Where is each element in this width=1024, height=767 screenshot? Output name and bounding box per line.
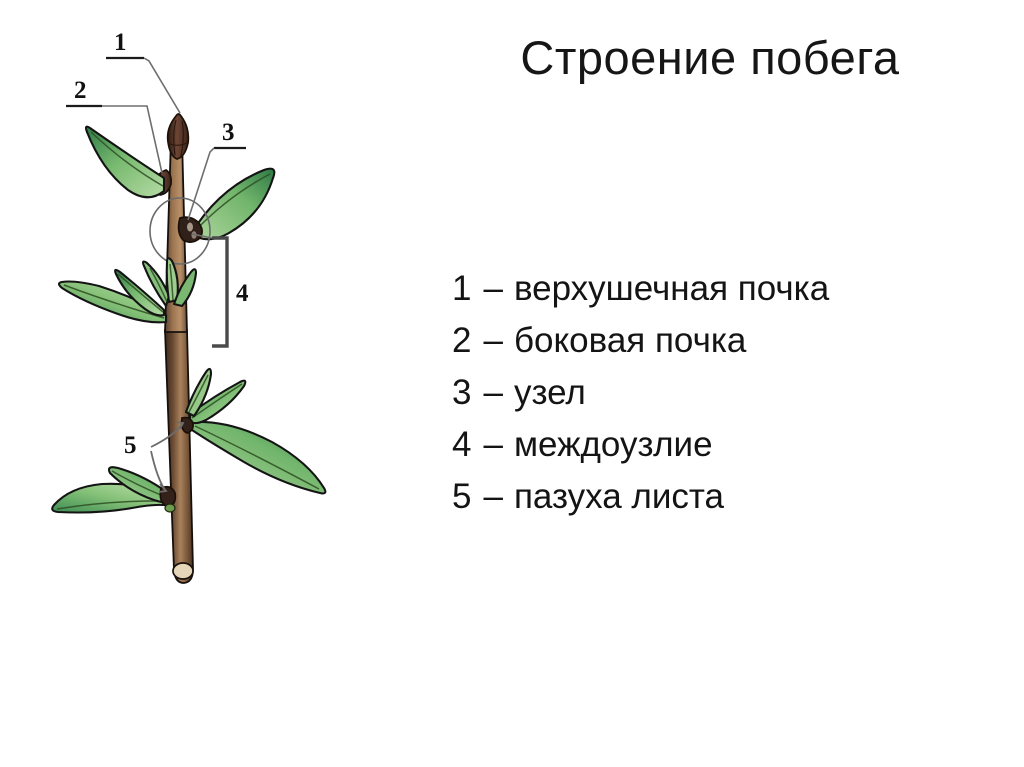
callout-1-number: 1 (114, 29, 127, 56)
legend-item-1-dash: – (471, 263, 513, 315)
leaf-middle-right-large (192, 422, 325, 494)
leaf-upper-left (86, 127, 164, 198)
legend-item-4: 4–междоузлие (452, 419, 972, 471)
shoot-structure-figure: 1 2 3 4 (14, 10, 374, 610)
legend-item-2-label: боковая почка (514, 315, 746, 367)
callout-3-number: 3 (222, 119, 235, 146)
legend-item-3-dash: – (471, 367, 513, 419)
legend-item-5-number: 5 (452, 471, 471, 523)
stem-cut-end (173, 563, 193, 579)
legend-item-1: 1–верхушечная почка (452, 263, 972, 315)
legend-item-2: 2–боковая почка (452, 315, 972, 367)
legend-item-4-label: междоузлие (514, 419, 713, 471)
legend-list: 1–верхушечная почка 2–боковая почка 3–уз… (452, 263, 972, 523)
apical-bud (168, 114, 189, 159)
callout-4-number: 4 (236, 280, 249, 307)
legend-item-5: 5–пазуха листа (452, 471, 972, 523)
leaf-upper-right (191, 169, 274, 240)
callout-4: 4 (192, 234, 249, 346)
legend-item-3-label: узел (514, 367, 586, 419)
legend-item-5-dash: – (471, 471, 513, 523)
callout-1: 1 (106, 29, 180, 113)
legend-item-5-label: пазуха листа (514, 471, 724, 523)
callout-5-number: 5 (124, 432, 137, 459)
legend-item-4-number: 4 (452, 419, 471, 471)
stem (165, 138, 193, 583)
axil-bud-bottom-left (160, 487, 175, 512)
slide-canvas: Строение побега (0, 0, 1024, 767)
legend-item-2-number: 2 (452, 315, 471, 367)
legend-item-1-label: верхушечная почка (514, 263, 829, 315)
leaf-middle-right-small (186, 369, 245, 423)
legend-item-3: 3–узел (452, 367, 972, 419)
page-title: Строение побега (430, 30, 990, 85)
legend-item-4-dash: – (471, 419, 513, 471)
legend-item-1-number: 1 (452, 263, 471, 315)
stem-lower (165, 330, 193, 583)
legend-item-2-dash: – (471, 315, 513, 367)
callout-2-number: 2 (74, 77, 87, 104)
leaf-bottom-left (52, 467, 172, 512)
legend-item-3-number: 3 (452, 367, 471, 419)
axil-bud-middle-right (182, 418, 194, 433)
